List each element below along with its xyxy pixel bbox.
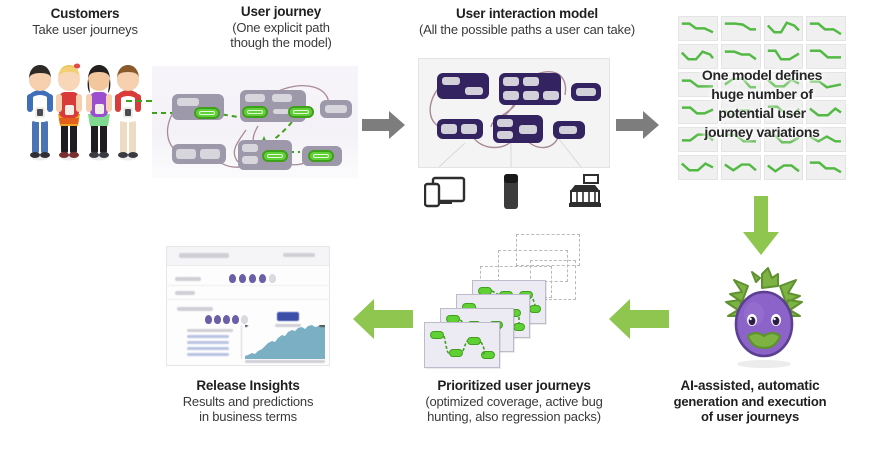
interaction-model-subtitle: (All the possible paths a user can take) xyxy=(382,22,672,37)
model-group-d xyxy=(437,119,483,139)
journey-chip xyxy=(242,144,258,152)
model-chip xyxy=(576,88,596,96)
variations-line-3: potential user xyxy=(678,104,846,123)
dashboard-subsection-blur xyxy=(175,291,195,295)
model-chip xyxy=(442,77,460,85)
table-row xyxy=(187,329,233,332)
model-chip xyxy=(497,131,513,139)
variations-line-4: journey variations xyxy=(678,123,846,142)
model-chip xyxy=(503,91,519,100)
insights-area-chart xyxy=(245,325,325,359)
arrow-variations-to-ai xyxy=(742,196,780,256)
model-chip xyxy=(465,87,483,95)
journey-node-active xyxy=(242,106,268,118)
variation-tile xyxy=(721,16,761,41)
rating-dot xyxy=(214,315,221,324)
arrow-journey-to-model xyxy=(362,110,406,140)
rating-dot xyxy=(269,274,276,283)
model-chip xyxy=(503,77,519,86)
release-insights-subtitle-1: Results and predictions xyxy=(158,394,338,409)
variation-tile xyxy=(678,16,718,41)
model-chip xyxy=(543,91,559,100)
interaction-model-title: User interaction model xyxy=(382,6,672,22)
ai-mascot-illustration xyxy=(712,266,816,370)
variation-tile xyxy=(678,44,718,69)
arrow-ai-to-prioritized xyxy=(608,298,670,340)
caption-user-journey: User journey (One explicit path though t… xyxy=(182,4,380,51)
chart-x-axis-labels xyxy=(245,360,325,363)
journey-node-active xyxy=(308,150,334,162)
rating-dot xyxy=(239,274,246,283)
variations-overlay-text: One model defines huge number of potenti… xyxy=(678,66,846,142)
model-group-f xyxy=(553,121,585,139)
caption-ai-generation: AI-assisted, automatic generation and ex… xyxy=(636,378,864,425)
dashboard-divider xyxy=(167,285,329,286)
rating-dot xyxy=(205,315,212,324)
journey-group-b xyxy=(240,90,306,122)
dashboard-title-blur xyxy=(179,253,229,258)
release-insights-dashboard xyxy=(166,246,330,366)
journey-chip xyxy=(245,94,265,102)
desktop-and-mobile-icon xyxy=(424,176,466,210)
rating-dot xyxy=(249,274,256,283)
user-journey-title: User journey xyxy=(182,4,380,20)
journey-group-a xyxy=(172,94,224,120)
dashboard-chart-title-blur xyxy=(177,307,213,311)
variation-tile xyxy=(721,155,761,180)
model-chip xyxy=(461,124,477,134)
prioritized-subtitle-1: (optimized coverage, active bug xyxy=(398,394,630,409)
dashboard-mini-table xyxy=(187,329,235,357)
journey-chip xyxy=(325,105,347,113)
journey-group-e xyxy=(238,140,292,170)
journey-node-active xyxy=(194,107,220,119)
journey-variations-panel: One model defines huge number of potenti… xyxy=(678,16,846,180)
variation-tile xyxy=(678,155,718,180)
model-group-b xyxy=(499,73,561,105)
variation-tile xyxy=(721,44,761,69)
customers-illustration xyxy=(14,52,144,164)
model-chip xyxy=(441,124,457,134)
model-group-a xyxy=(437,73,489,99)
prioritized-title: Prioritized user journeys xyxy=(398,378,630,394)
user-journey-subtitle-2: though the model) xyxy=(182,35,380,50)
journey-group-c xyxy=(320,100,352,118)
caption-user-interaction-model: User interaction model (All the possible… xyxy=(382,6,672,37)
release-insights-title: Release Insights xyxy=(158,378,338,394)
release-insights-subtitle-2: in business terms xyxy=(158,409,338,424)
dashboard-divider xyxy=(167,299,329,300)
table-row xyxy=(187,347,229,350)
caption-customers: Customers Take user journeys xyxy=(0,6,170,37)
arrow-model-to-variations xyxy=(616,110,660,140)
variation-tile xyxy=(806,44,846,69)
table-row xyxy=(187,335,229,338)
journey-group-d xyxy=(172,144,226,164)
dashboard-action-blur xyxy=(283,253,315,257)
journey-chip xyxy=(242,156,258,164)
interaction-model-panel xyxy=(418,58,610,168)
model-group-c xyxy=(571,83,601,101)
dashboard-label-blur xyxy=(175,277,201,281)
diagram-canvas: Customers Take user journeys xyxy=(0,0,869,450)
dashboard-badge xyxy=(277,312,299,321)
customers-title: Customers xyxy=(0,6,170,22)
model-chip xyxy=(519,125,537,134)
variation-tile xyxy=(764,44,804,69)
table-row xyxy=(187,353,229,356)
journey-node-active xyxy=(262,150,288,162)
journey-chip xyxy=(273,109,289,114)
arrow-prioritized-to-insights xyxy=(352,298,414,340)
model-chip xyxy=(523,77,539,86)
ai-generation-line-1: AI-assisted, automatic xyxy=(636,378,864,394)
journey-chip xyxy=(176,149,196,159)
ai-generation-line-2: generation and execution xyxy=(636,394,864,409)
journey-chip xyxy=(177,98,199,106)
caption-release-insights: Release Insights Results and predictions… xyxy=(158,378,338,425)
rating-dot xyxy=(259,274,266,283)
variation-tile xyxy=(806,155,846,180)
variation-tile xyxy=(764,16,804,41)
customers-subtitle: Take user journeys xyxy=(0,22,170,37)
user-journey-panel xyxy=(152,66,358,178)
rating-dot xyxy=(223,315,230,324)
model-chip xyxy=(559,126,577,134)
point-of-sale-icon xyxy=(566,172,604,210)
journey-node-active xyxy=(288,106,314,118)
journey-chip xyxy=(200,149,220,159)
smart-speaker-icon xyxy=(500,172,522,212)
rating-dot xyxy=(232,315,239,324)
rating-dot xyxy=(229,274,236,283)
variations-line-1: One model defines xyxy=(678,66,846,85)
model-chip xyxy=(523,91,539,100)
prioritized-journeys-illustration xyxy=(420,232,596,374)
variation-tile xyxy=(806,16,846,41)
variations-line-2: huge number of xyxy=(678,85,846,104)
ai-generation-line-3: of user journeys xyxy=(636,409,864,424)
table-row xyxy=(187,341,229,344)
journey-chip xyxy=(272,94,292,102)
prioritized-subtitle-2: hunting, also regression packs) xyxy=(398,409,630,424)
rating-dot xyxy=(241,315,248,324)
journey-group-f xyxy=(302,146,342,166)
variation-tile xyxy=(764,155,804,180)
user-journey-subtitle-1: (One explicit path xyxy=(182,20,380,35)
model-chip xyxy=(497,119,513,127)
model-group-e xyxy=(493,115,543,143)
chart-endpoint-marker xyxy=(319,325,325,327)
caption-prioritized-journeys: Prioritized user journeys (optimized cov… xyxy=(398,378,630,425)
journey-card xyxy=(424,322,500,368)
chart-y-axis xyxy=(241,325,242,359)
